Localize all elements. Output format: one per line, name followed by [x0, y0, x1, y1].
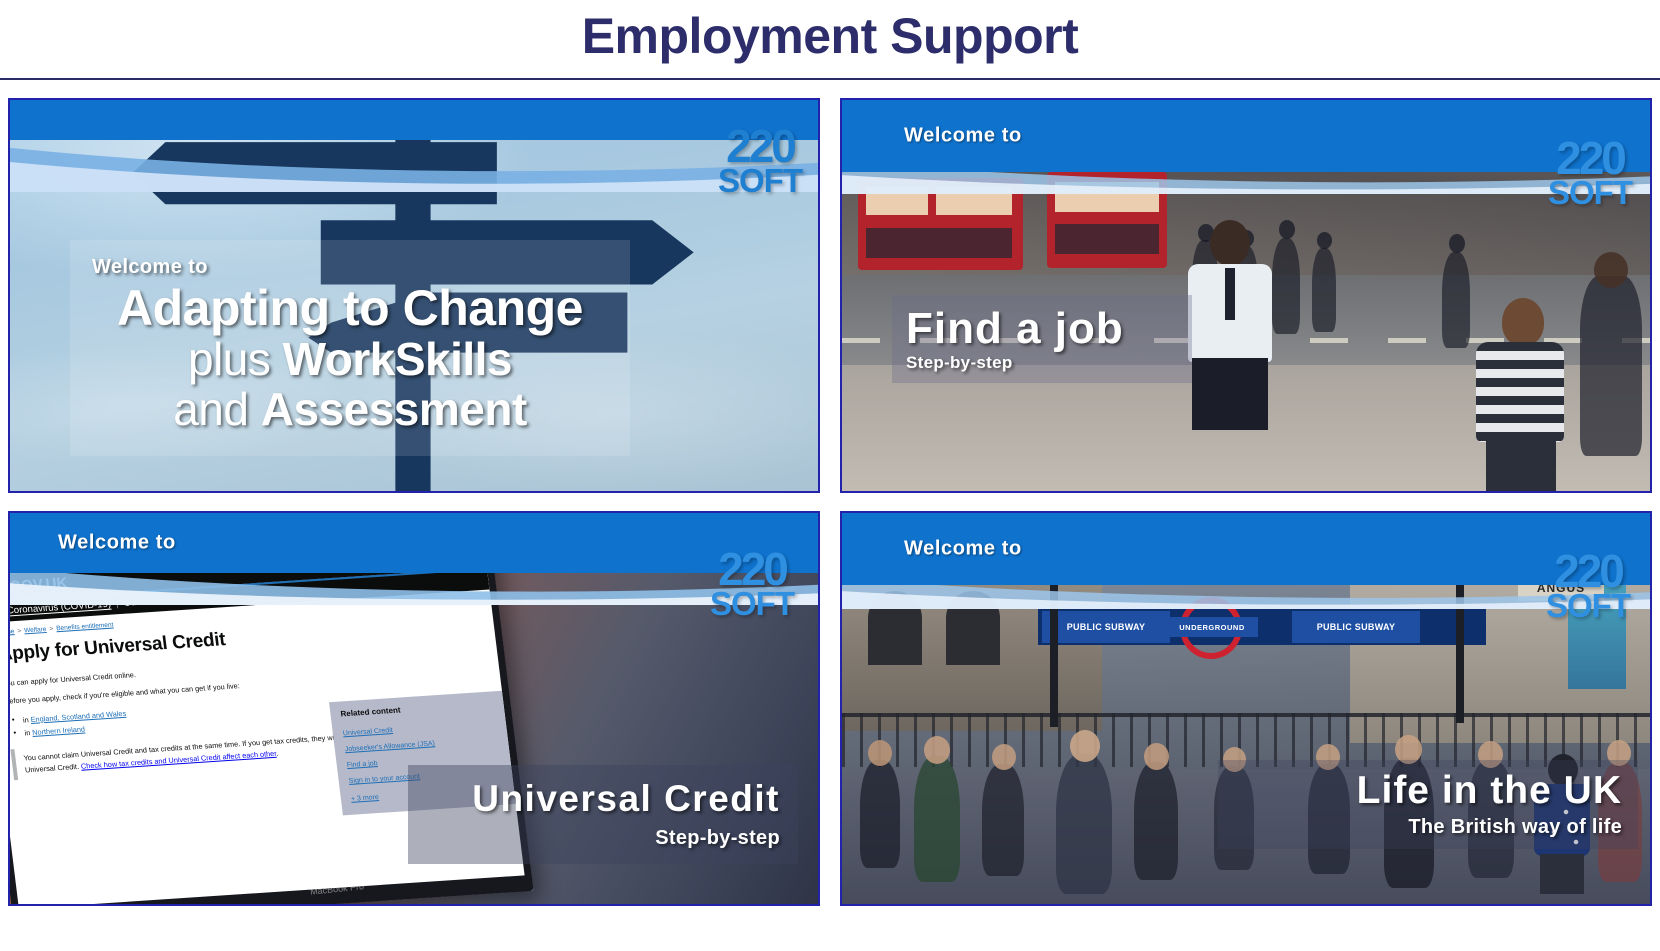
card-caption: Welcome to Adapting to Change plus WorkS… [70, 240, 630, 456]
govuk-brand: GOV.UK [10, 575, 68, 596]
card-caption: Find a job Step-by-step [892, 295, 1192, 383]
caption-subtitle: Step-by-step [426, 827, 780, 850]
caption-title-line-2: plus WorkSkills [92, 335, 608, 385]
underground-roundel-label: UNDERGROUND [1166, 617, 1258, 637]
caption-title: Life in the UK [1234, 770, 1622, 812]
caption-title: Universal Credit [426, 779, 780, 819]
related-link-jsa[interactable]: Jobseeker's Allowance (JSA) [345, 740, 436, 753]
breadcrumb-item-benefits[interactable]: Benefits entitlement [56, 622, 114, 633]
card-caption: Life in the UK The British way of life [1218, 760, 1638, 849]
public-subway-left: PUBLIC SUBWAY [1042, 611, 1170, 643]
banner-separator: | [115, 598, 119, 609]
video-card-grid: 220 SOFT Welcome to Adapting to Change p… [0, 80, 1660, 951]
caption-title-line-3-thin: and [173, 383, 261, 435]
card-caption: Universal Credit Step-by-step [408, 765, 798, 864]
caption-subtitle: The British way of life [1234, 816, 1622, 839]
arch-window [868, 591, 922, 665]
breadcrumb-item-home[interactable]: Home [10, 628, 15, 636]
related-content-heading: Related content [340, 699, 496, 718]
covid-banner-text: Guidance and support [123, 592, 218, 609]
related-link-find-a-job[interactable]: Find a job [346, 760, 378, 769]
person-striped-top [1472, 298, 1568, 491]
caption-title-line-3: and Assessment [92, 385, 608, 435]
foreground-person [1182, 220, 1278, 430]
caption-title-line-3-bold: Assessment [261, 383, 527, 435]
card-header-band: Welcome to [842, 513, 1650, 585]
card-header-band: Welcome to [10, 513, 818, 573]
caption-title-line-2-thin: plus [188, 333, 283, 385]
page-title: Employment Support [582, 11, 1079, 67]
page-header: Employment Support [0, 0, 1660, 80]
band-welcome-label: Welcome to [58, 532, 176, 555]
arch-window [946, 591, 1000, 665]
card-universal-credit[interactable]: GOV.UK → Coronavirus (COVID-19) | Guidan… [8, 511, 820, 906]
public-subway-right: PUBLIC SUBWAY [1292, 611, 1420, 643]
red-bus-right [1047, 172, 1167, 268]
card-find-a-job[interactable]: Welcome to 220 SOFT Find a job Step-by-s… [840, 98, 1652, 493]
band-welcome-label: Welcome to [904, 538, 1022, 561]
caption-subtitle: Step-by-step [906, 353, 1178, 373]
card-header-band [10, 100, 818, 140]
caption-title-line-2-bold: WorkSkills [283, 333, 512, 385]
railing-bars [842, 713, 1650, 767]
covid-link[interactable]: Coronavirus (COVID-19) [10, 599, 112, 617]
note-text-2: . [276, 748, 279, 757]
card-adapting-to-change[interactable]: 220 SOFT Welcome to Adapting to Change p… [8, 98, 820, 493]
link-northern-ireland[interactable]: Northern Ireland [32, 724, 86, 736]
caption-title: Find a job [906, 305, 1178, 353]
caption-title-line-1: Adapting to Change [92, 281, 608, 335]
band-welcome-label: Welcome to [904, 125, 1022, 148]
card-header-band: Welcome to [842, 100, 1650, 172]
breadcrumb-item-welfare[interactable]: Welfare [24, 626, 47, 634]
card-life-in-the-uk[interactable]: PUBLIC SUBWAY PUBLIC SUBWAY UNDERGROUND … [840, 511, 1652, 906]
related-link-universal-credit[interactable]: Universal Credit [343, 727, 394, 737]
caption-welcome: Welcome to [92, 256, 608, 279]
red-bus-left [858, 178, 1023, 270]
